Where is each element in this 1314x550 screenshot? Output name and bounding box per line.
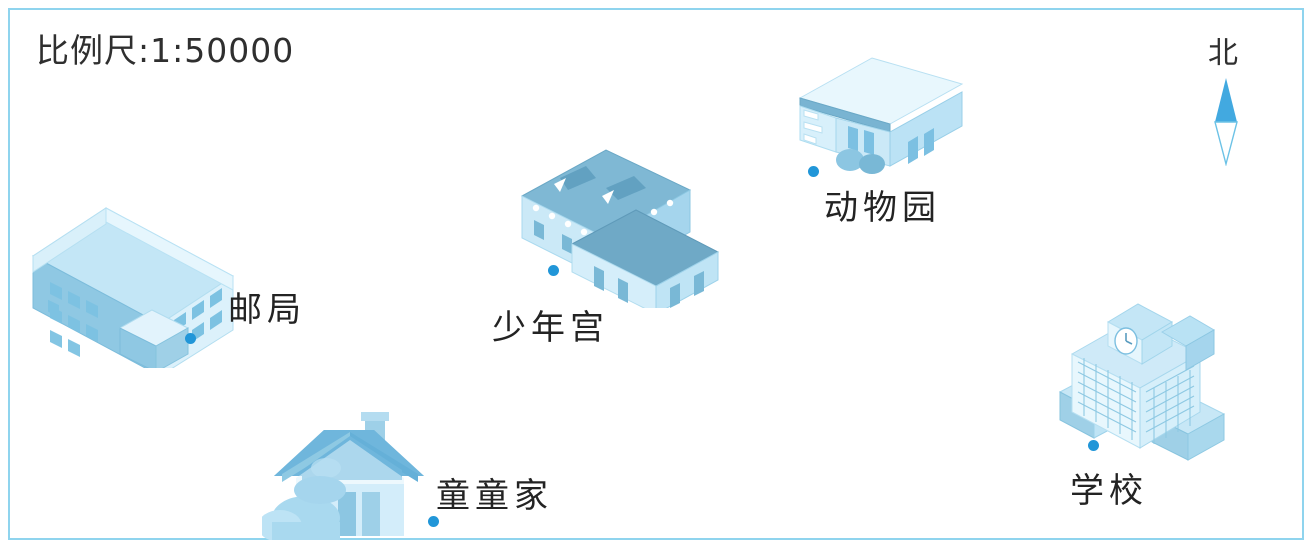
label-post-office: 邮局 xyxy=(228,282,306,331)
building-zoo xyxy=(786,56,966,176)
compass-needle-icon xyxy=(1206,76,1246,166)
label-tongtong-home: 童童家 xyxy=(436,468,553,517)
marker-dot-tongtong-home[interactable] xyxy=(428,516,439,527)
marker-dot-childrens-palace[interactable] xyxy=(548,265,559,276)
building-tongtong-home xyxy=(262,410,447,540)
label-childrens-palace: 少年宫 xyxy=(492,300,609,349)
label-school: 学校 xyxy=(1070,463,1148,512)
marker-dot-school[interactable] xyxy=(1088,440,1099,451)
marker-dot-zoo[interactable] xyxy=(808,166,819,177)
building-post-office xyxy=(28,178,238,368)
label-zoo: 动物园 xyxy=(824,180,941,229)
marker-dot-post-office[interactable] xyxy=(185,333,196,344)
map-page: 比例尺:1:50000 北 xyxy=(0,0,1314,550)
compass-north-label: 北 xyxy=(1208,28,1240,72)
scale-text: 比例尺:1:50000 xyxy=(36,24,294,72)
building-school xyxy=(1054,296,1234,466)
building-childrens-palace xyxy=(510,148,730,308)
